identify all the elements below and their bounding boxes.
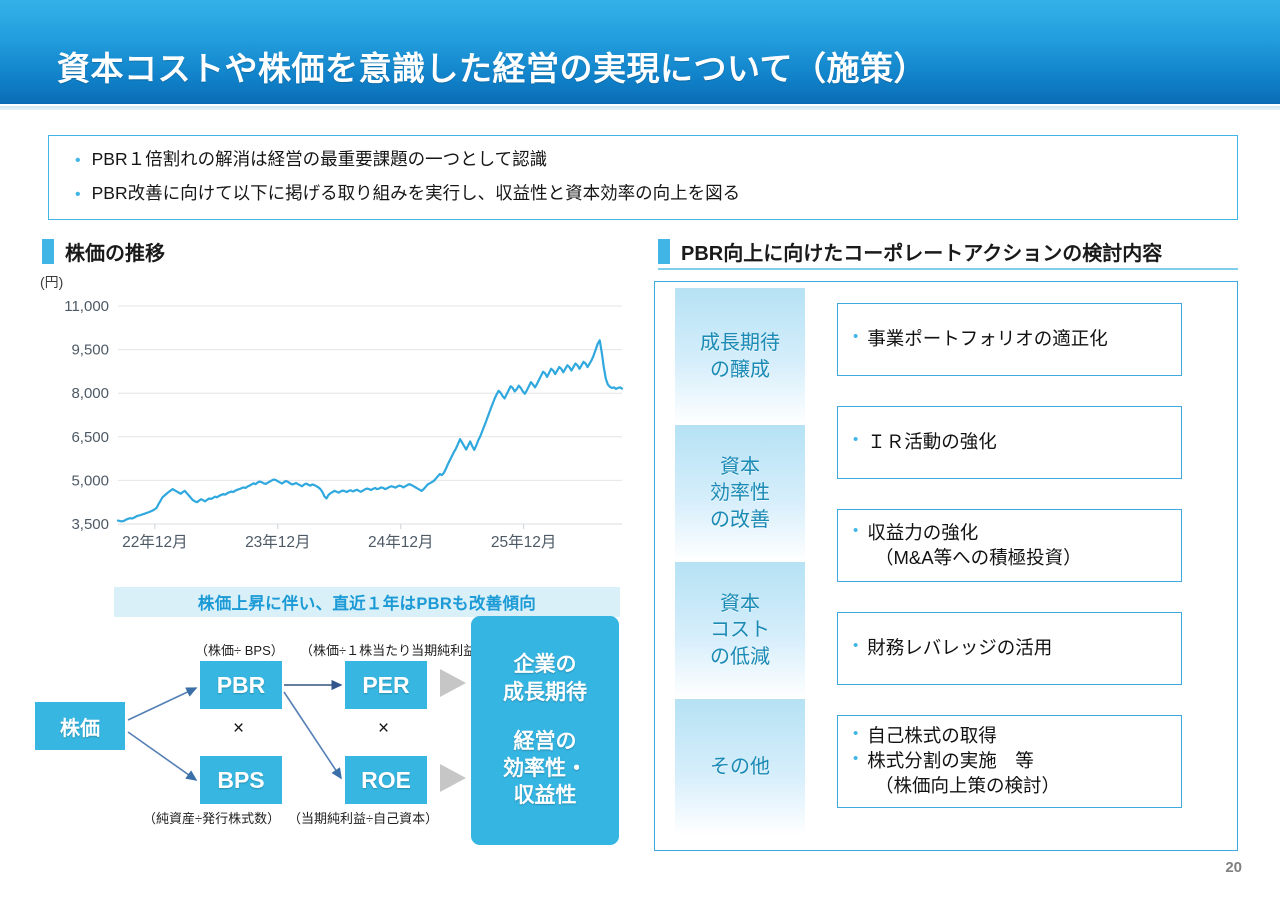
corporate-actions-panel: 成長期待の醸成資本効率性の改善資本コストの低減その他 •事業ポートフォリオの適正… bbox=[654, 281, 1238, 851]
bullet-icon: • bbox=[75, 187, 81, 203]
action-item-line: •株式分割の実施 等 bbox=[853, 749, 1181, 774]
action-category-0: 成長期待の醸成 bbox=[675, 288, 805, 425]
action-category-column: 成長期待の醸成資本効率性の改善資本コストの低減その他 bbox=[675, 282, 805, 850]
section-marker-icon bbox=[658, 239, 670, 264]
chart-x-tick-label: 24年12月 bbox=[368, 533, 433, 551]
action-item-box-1[interactable]: •ＩＲ活動の強化 bbox=[837, 406, 1182, 479]
action-item-line: •ＩＲ活動の強化 bbox=[853, 430, 1181, 455]
note-text: PBR改善に向けて以下に掲げる取り組みを実行し、収益性と資本効率の向上を図る bbox=[92, 183, 740, 205]
pbr-formula-diagram: （株価÷ BPS） （株価÷１株当たり当期純利益） （純資産÷発行株式数） （当… bbox=[30, 630, 630, 860]
action-item-line: •自己株式の取得 bbox=[853, 724, 1181, 749]
result-line: 効率性・ bbox=[503, 755, 587, 782]
action-item-content: •事業ポートフォリオの適正化 bbox=[838, 327, 1181, 352]
summary-notes-list: • PBR１倍割れの解消は経営の最重要課題の一つとして認識 • PBR改善に向け… bbox=[49, 136, 1237, 205]
action-item-content: •自己株式の取得•株式分割の実施 等（株価向上策の検討） bbox=[838, 724, 1181, 799]
action-category-label: 成長期待の醸成 bbox=[700, 330, 780, 383]
result-line: 経営の bbox=[514, 728, 577, 755]
action-item-text: ＩＲ活動の強化 bbox=[867, 430, 997, 455]
formula-node-stock-price: 株価 bbox=[35, 702, 125, 750]
action-item-line: •財務レバレッジの活用 bbox=[853, 636, 1181, 661]
header-divider bbox=[0, 106, 1280, 110]
formula-caption-pbr: （株価÷ BPS） bbox=[195, 640, 284, 659]
chart-y-tick-label: 3,500 bbox=[71, 516, 109, 533]
action-item-content: •ＩＲ活動の強化 bbox=[838, 430, 1181, 455]
chart-series-line bbox=[118, 340, 622, 521]
action-item-subtext: （M&A等への積極投資） bbox=[853, 546, 1181, 571]
section-rule bbox=[658, 268, 1238, 270]
page-number: 20 bbox=[1225, 859, 1242, 876]
note-item: • PBR１倍割れの解消は経営の最重要課題の一つとして認識 bbox=[75, 149, 1237, 171]
section-title: 株価の推移 bbox=[65, 237, 165, 266]
chart-y-tick-label: 6,500 bbox=[71, 429, 109, 446]
action-item-line: •事業ポートフォリオの適正化 bbox=[853, 327, 1181, 352]
action-item-text: 収益力の強化 bbox=[867, 521, 978, 546]
formula-caption-per: （株価÷１株当たり当期純利益） bbox=[300, 640, 489, 659]
note-item: • PBR改善に向けて以下に掲げる取り組みを実行し、収益性と資本効率の向上を図る bbox=[75, 183, 1237, 205]
triangle-right-icon bbox=[436, 761, 470, 795]
triangle-right-icon bbox=[436, 666, 470, 700]
formula-node-pbr: PBR bbox=[200, 661, 282, 709]
action-item-text: 自己株式の取得 bbox=[867, 724, 997, 749]
chart-y-tick-label: 9,500 bbox=[71, 342, 109, 359]
action-category-3: その他 bbox=[675, 699, 805, 836]
section-marker-icon bbox=[42, 239, 54, 264]
section-title: PBR向上に向けたコーポレートアクションの検討内容 bbox=[681, 237, 1162, 266]
bullet-icon: • bbox=[853, 749, 858, 769]
action-item-text: 事業ポートフォリオの適正化 bbox=[867, 327, 1108, 352]
bullet-icon: • bbox=[853, 430, 858, 450]
chart-x-tick-label: 22年12月 bbox=[122, 533, 187, 551]
multiply-icon: × bbox=[378, 718, 389, 740]
stock-price-chart: 3,5005,0006,5008,0009,50011,00022年12月23年… bbox=[36, 292, 628, 562]
action-category-label: 資本コストの低減 bbox=[710, 591, 770, 670]
bullet-icon: • bbox=[853, 521, 858, 541]
action-item-box-0[interactable]: •事業ポートフォリオの適正化 bbox=[837, 303, 1182, 376]
action-item-line: •収益力の強化 bbox=[853, 521, 1181, 546]
formula-node-bps: BPS bbox=[200, 756, 282, 804]
bullet-icon: • bbox=[853, 327, 858, 347]
action-item-box-4[interactable]: •自己株式の取得•株式分割の実施 等（株価向上策の検討） bbox=[837, 715, 1182, 808]
pbr-trend-banner: 株価上昇に伴い、直近１年はPBRも改善傾向 bbox=[114, 587, 620, 617]
pbr-trend-text: 株価上昇に伴い、直近１年はPBRも改善傾向 bbox=[198, 590, 536, 614]
page-title: 資本コストや株価を意識した経営の実現について（施策） bbox=[57, 42, 927, 90]
multiply-icon: × bbox=[233, 718, 244, 740]
action-item-box-2[interactable]: •収益力の強化（M&A等への積極投資） bbox=[837, 509, 1182, 582]
action-item-subtext: （株価向上策の検討） bbox=[853, 774, 1181, 799]
action-category-label: 資本効率性の改善 bbox=[710, 454, 770, 533]
formula-caption-roe: （当期純利益÷自己資本） bbox=[288, 808, 438, 827]
action-item-text: 財務レバレッジの活用 bbox=[867, 636, 1052, 661]
formula-result-box: 企業の 成長期待 経営の 効率性・ 収益性 bbox=[471, 616, 619, 845]
chart-x-tick-label: 25年12月 bbox=[491, 533, 556, 551]
section-heading-corporate-actions: PBR向上に向けたコーポレートアクションの検討内容 bbox=[658, 237, 1162, 266]
action-category-2: 資本コストの低減 bbox=[675, 562, 805, 699]
chart-y-tick-label: 11,000 bbox=[64, 298, 109, 315]
action-item-content: •財務レバレッジの活用 bbox=[838, 636, 1181, 661]
slide-root: 資本コストや株価を意識した経営の実現について（施策） • PBR１倍割れの解消は… bbox=[0, 0, 1280, 904]
bullet-icon: • bbox=[853, 636, 858, 656]
summary-notes-box: • PBR１倍割れの解消は経営の最重要課題の一つとして認識 • PBR改善に向け… bbox=[48, 135, 1238, 220]
action-item-box-3[interactable]: •財務レバレッジの活用 bbox=[837, 612, 1182, 685]
formula-node-per: PER bbox=[345, 661, 427, 709]
action-item-content: •収益力の強化（M&A等への積極投資） bbox=[838, 521, 1181, 571]
result-line: 企業の bbox=[514, 651, 577, 678]
formula-caption-bps: （純資産÷発行株式数） bbox=[143, 808, 280, 827]
action-item-text: 株式分割の実施 等 bbox=[867, 749, 1034, 774]
action-category-1: 資本効率性の改善 bbox=[675, 425, 805, 562]
stock-price-chart-svg: 3,5005,0006,5008,0009,50011,00022年12月23年… bbox=[36, 292, 628, 562]
result-line: 収益性 bbox=[514, 782, 577, 809]
chart-x-tick-label: 23年12月 bbox=[245, 533, 310, 551]
chart-unit-label: (円) bbox=[40, 272, 63, 292]
bullet-icon: • bbox=[853, 724, 858, 744]
chart-y-tick-label: 8,000 bbox=[71, 385, 109, 402]
note-text: PBR１倍割れの解消は経営の最重要課題の一つとして認識 bbox=[92, 149, 547, 171]
formula-node-roe: ROE bbox=[345, 756, 427, 804]
chart-y-tick-label: 5,000 bbox=[71, 472, 109, 489]
section-heading-stock-chart: 株価の推移 bbox=[42, 237, 165, 266]
result-line: 成長期待 bbox=[503, 679, 587, 706]
action-category-label: その他 bbox=[710, 754, 770, 780]
bullet-icon: • bbox=[75, 153, 81, 169]
